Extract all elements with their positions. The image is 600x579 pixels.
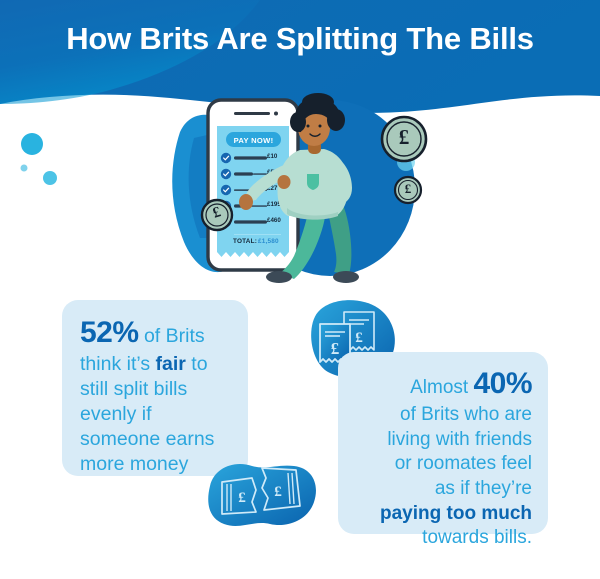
large-teal-dot: [21, 133, 43, 155]
banknote-right-pound-icon: £: [274, 484, 282, 500]
stat-right-line7: towards bills.: [422, 527, 532, 548]
stat-card-left: 52% of Brits think it’s fair to still sp…: [62, 300, 248, 476]
receipt-front-pound-icon: £: [331, 339, 340, 358]
stat-left-line5: someone earns: [80, 428, 214, 450]
stat-left-line2a: think it’s: [80, 353, 156, 375]
stat-left-line1-rest: of Brits: [139, 325, 205, 347]
stat-left-text: 52% of Brits think it’s fair to still sp…: [80, 314, 232, 477]
stat-left-line2b: to: [186, 353, 208, 375]
stat-right-line4: or roomates feel: [395, 453, 532, 474]
stat-card-right: Almost 40% of Brits who are living with …: [338, 352, 548, 534]
banknote-left-pound-icon: £: [238, 490, 246, 506]
stat-right-line5: as if they’re: [435, 478, 532, 499]
stat-left-line2-bold: fair: [156, 353, 186, 375]
stat-right-line1-pre: Almost: [410, 377, 473, 398]
stat-left-line6: more money: [80, 453, 188, 475]
hero-illustration: PAY NOW! £10 £550 £275 £195 £460 TOTAL: …: [160, 92, 460, 302]
stat-left-line4: evenly if: [80, 403, 152, 425]
page-title: How Brits Are Splitting The Bills: [0, 22, 600, 56]
receipt-back-pound-icon: £: [355, 330, 363, 346]
stat-left-percent: 52%: [80, 316, 139, 349]
split-banknote-blob: £ £: [200, 456, 322, 536]
stat-right-text: Almost 40% of Brits who are living with …: [352, 364, 532, 551]
stat-right-line2: of Brits who are: [400, 404, 532, 425]
tiny-dot: [21, 165, 28, 172]
infographic-canvas: How Brits Are Splitting The Bills: [0, 0, 600, 579]
decorative-dots: [10, 128, 120, 198]
stat-right-percent: 40%: [473, 367, 532, 400]
small-dot: [43, 171, 57, 185]
coins-group: [160, 92, 460, 302]
stat-left-line3: still split bills: [80, 378, 187, 400]
stat-right-line6-bold: paying too much: [380, 503, 532, 524]
blob-shape: [208, 464, 316, 526]
coin-large-pound-icon: £: [392, 125, 416, 150]
stat-right-line3: living with friends: [387, 429, 532, 450]
coin-medium-pound-icon: £: [400, 181, 416, 197]
